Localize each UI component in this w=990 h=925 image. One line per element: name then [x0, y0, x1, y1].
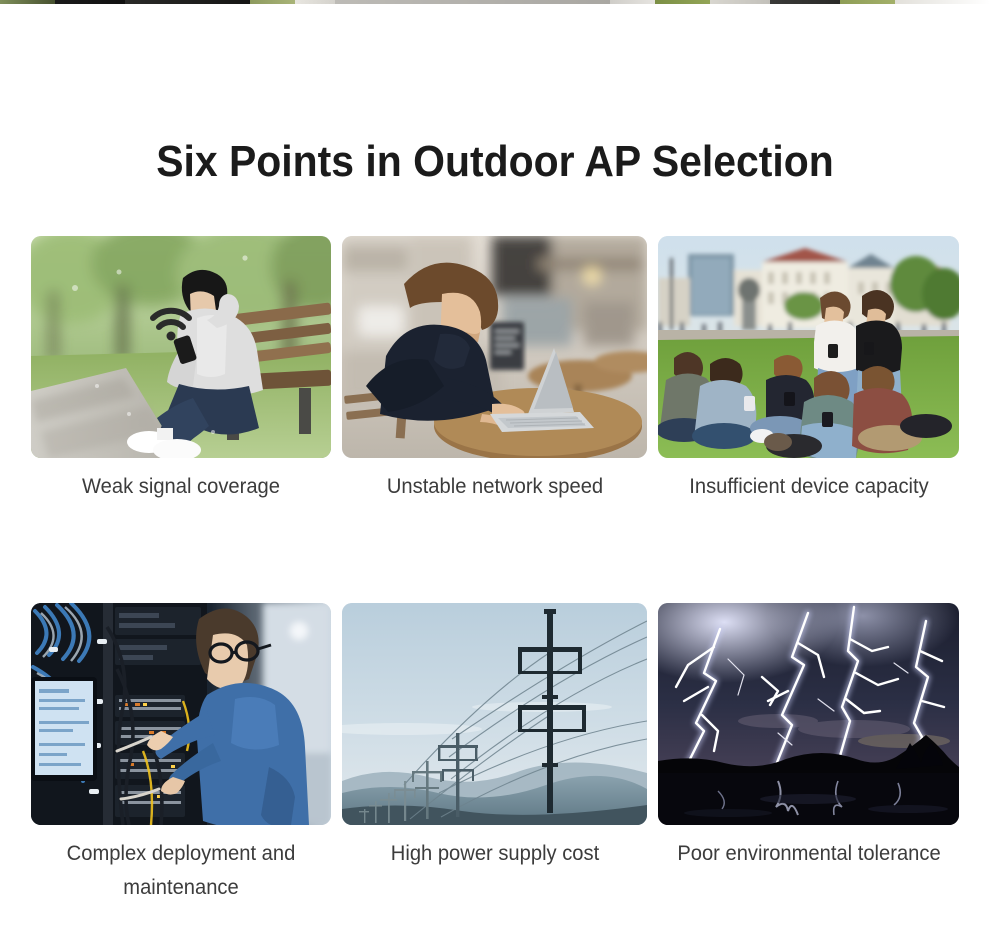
- caption-poor-environmental-tolerance: Poor environmental tolerance: [660, 837, 958, 871]
- top-image-bleed-strip: [0, 0, 990, 4]
- point-card-insufficient-device-capacity[interactable]: Insufficient device capacity: [658, 236, 959, 504]
- caption-complex-deployment-and-maintenance: Complex deployment and maintenance: [32, 837, 330, 905]
- image-power-transmission-lines-at-dusk: [342, 603, 647, 825]
- image-man-on-park-bench-with-phone: [31, 236, 331, 458]
- caption-insufficient-device-capacity: Insufficient device capacity: [660, 470, 958, 504]
- poster-root: Six Points in Outdoor AP Selection: [0, 0, 990, 925]
- points-row-1: Weak signal coverage: [31, 236, 959, 504]
- image-group-of-people-on-city-lawn-with-phones: [658, 236, 959, 458]
- points-grid: Weak signal coverage: [31, 236, 959, 905]
- image-man-with-laptop-at-street-cafe: [342, 236, 647, 458]
- image-lightning-storm-over-water-at-night: [658, 603, 959, 825]
- point-card-weak-signal-coverage[interactable]: Weak signal coverage: [31, 236, 331, 504]
- page-title: Six Points in Outdoor AP Selection: [35, 132, 956, 192]
- caption-high-power-supply-cost: High power supply cost: [346, 837, 644, 871]
- caption-unstable-network-speed: Unstable network speed: [346, 470, 644, 504]
- image-technician-wiring-network-rack: [31, 603, 331, 825]
- point-card-complex-deployment-and-maintenance[interactable]: Complex deployment and maintenance: [31, 603, 331, 905]
- caption-weak-signal-coverage: Weak signal coverage: [32, 470, 330, 504]
- point-card-high-power-supply-cost[interactable]: High power supply cost: [342, 603, 647, 871]
- points-row-2: Complex deployment and maintenance: [31, 603, 959, 905]
- point-card-poor-environmental-tolerance[interactable]: Poor environmental tolerance: [658, 603, 959, 871]
- point-card-unstable-network-speed[interactable]: Unstable network speed: [342, 236, 647, 504]
